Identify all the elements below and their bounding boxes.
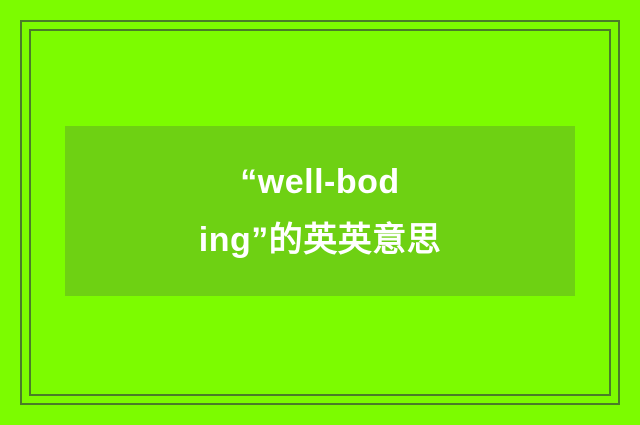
headline-content-box: “well-bod ing”的英英意思 xyxy=(65,126,575,296)
page-title: “well-bod ing”的英英意思 xyxy=(199,153,441,269)
headline-line-1: “well-bod xyxy=(199,153,441,211)
headline-line-2: ing”的英英意思 xyxy=(199,211,441,269)
poster-canvas: “well-bod ing”的英英意思 xyxy=(0,0,640,425)
